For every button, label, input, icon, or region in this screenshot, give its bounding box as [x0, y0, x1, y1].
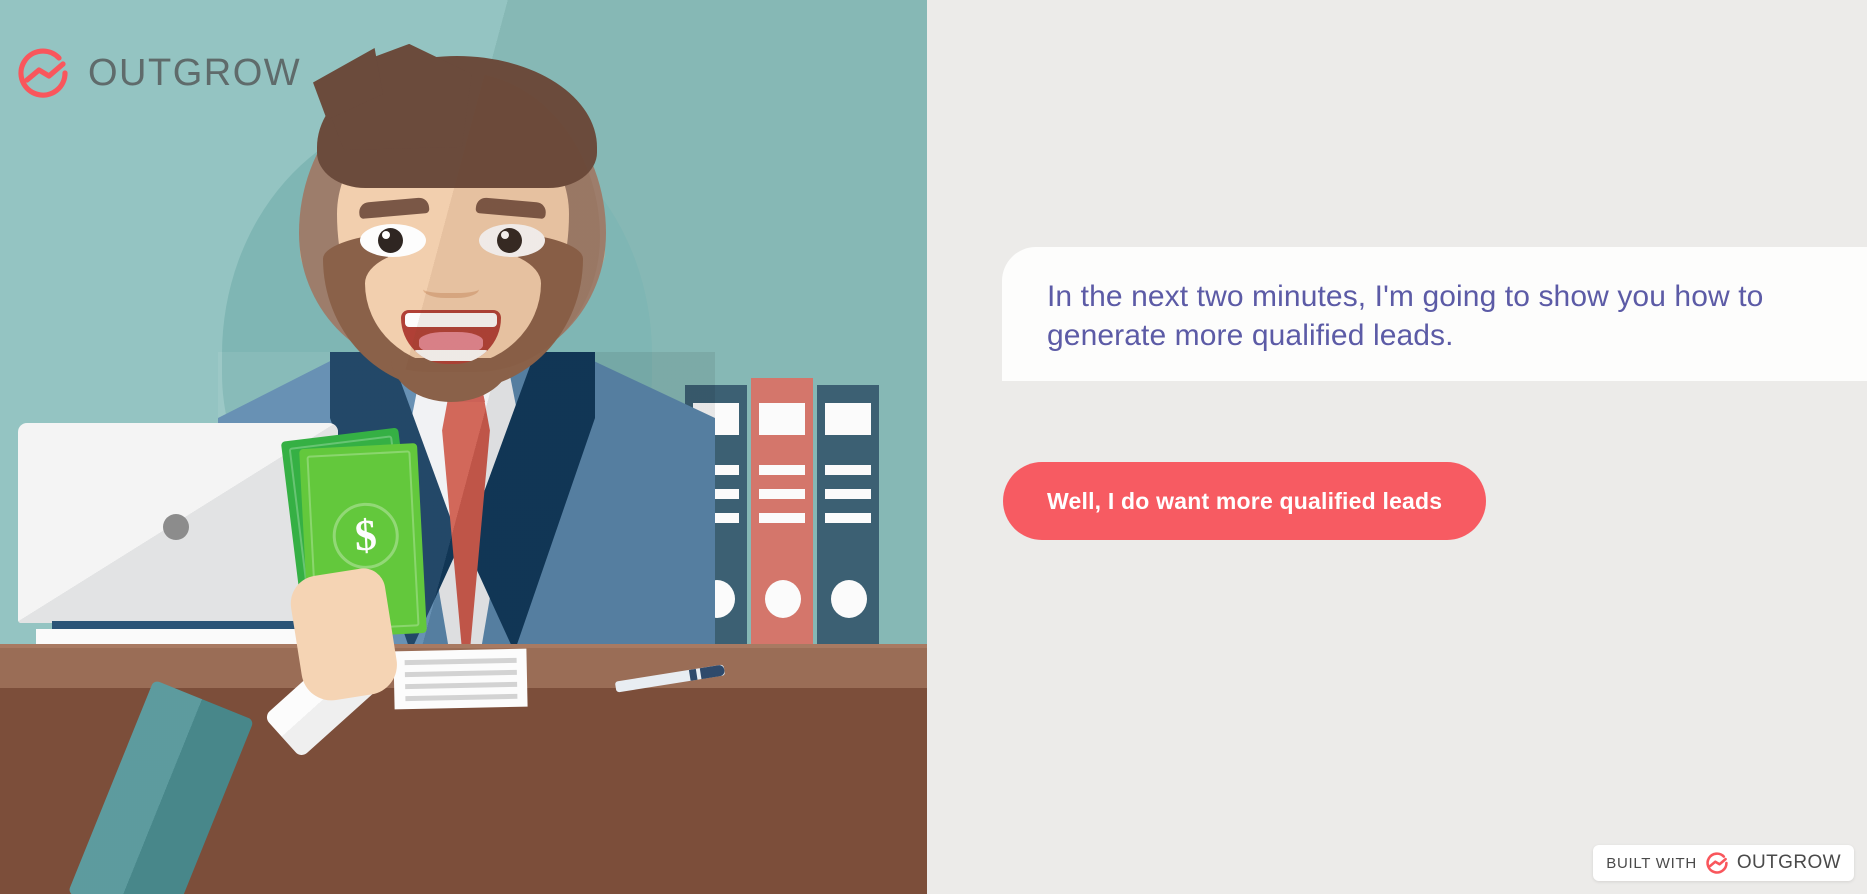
lower-teeth — [413, 350, 489, 361]
binder-right — [817, 385, 879, 650]
binder-stripe — [759, 513, 805, 523]
outgrow-circle-mark-icon — [15, 45, 71, 101]
binder-middle — [751, 378, 813, 650]
chat-panel: In the next two minutes, I'm going to sh… — [927, 0, 1867, 894]
pen-band — [689, 669, 698, 681]
nose — [423, 276, 479, 298]
upper-teeth — [405, 313, 497, 327]
binder-ring — [765, 580, 801, 618]
binder-label — [759, 403, 805, 435]
binder-stripe — [759, 465, 805, 475]
outgrow-logo[interactable]: OUTGROW — [15, 45, 301, 101]
laptop-logo-dot — [163, 514, 189, 540]
eye-left — [360, 224, 426, 257]
thumb — [295, 593, 366, 691]
built-with-label: BUILT WITH — [1606, 855, 1697, 872]
logo-wordmark: OUTGROW — [88, 52, 301, 95]
badge-wordmark: OUTGROW — [1737, 852, 1841, 874]
character-head — [305, 72, 600, 372]
paper-line — [405, 694, 517, 701]
binder-stripe — [825, 465, 871, 475]
mouth — [401, 310, 501, 364]
paper-line — [405, 670, 517, 677]
experience-stage: $ OUTGROW In the next two minutes, I'm g… — [0, 0, 1867, 894]
binder-ring — [831, 580, 867, 618]
binder-stripe — [759, 489, 805, 499]
illustration-panel: $ OUTGROW — [0, 0, 927, 894]
cta-answer-button[interactable]: Well, I do want more qualified leads — [1003, 462, 1486, 540]
outgrow-circle-mark-icon — [1705, 851, 1729, 875]
paper-line — [405, 658, 517, 665]
binder-shelf — [685, 385, 897, 650]
paper-document — [393, 649, 527, 710]
built-with-badge[interactable]: BUILT WITH OUTGROW — [1593, 845, 1854, 881]
binder-stripe — [825, 513, 871, 523]
pupil-left — [378, 228, 403, 253]
bot-message-text: In the next two minutes, I'm going to sh… — [1047, 277, 1825, 355]
paper-line — [405, 682, 517, 689]
binder-label — [825, 403, 871, 435]
bot-message-bubble: In the next two minutes, I'm going to sh… — [1002, 247, 1867, 381]
eye-right — [479, 224, 545, 257]
pupil-right — [497, 228, 522, 253]
binder-stripe — [825, 489, 871, 499]
